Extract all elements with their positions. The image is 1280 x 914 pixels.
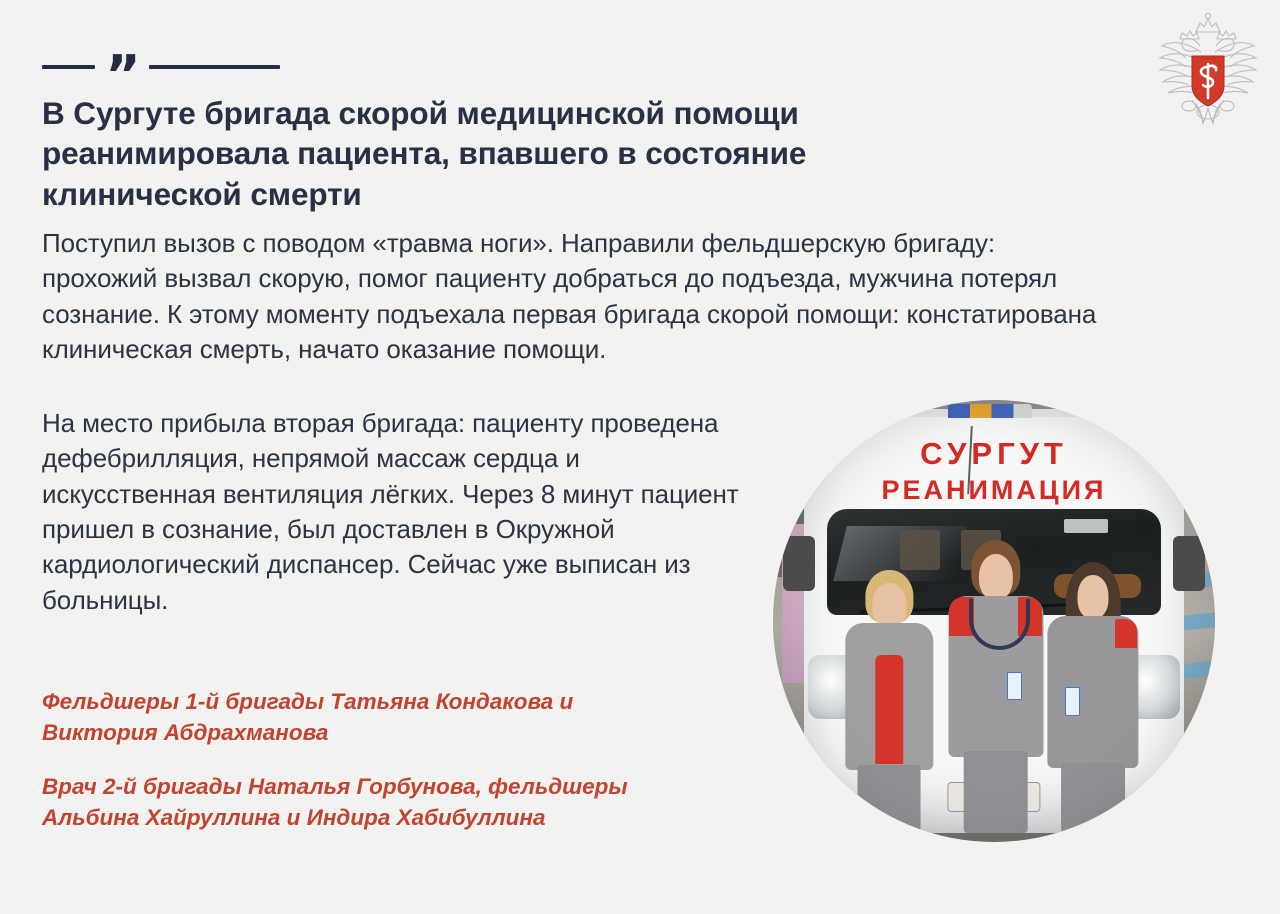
crew-member-left <box>846 570 933 833</box>
body-paragraph-first: Поступил вызов с поводом «травма ноги». … <box>42 226 1097 367</box>
uniform-red-panel <box>875 655 903 764</box>
emergency-lightbar <box>948 404 1032 418</box>
crew-trousers <box>964 751 1029 833</box>
crew-head <box>873 583 906 628</box>
van-label-city: СУРГУТ <box>804 436 1184 472</box>
side-mirror-right <box>1173 536 1205 591</box>
uniform-shoulder-right <box>1115 619 1137 649</box>
body-paragraph-second: На место прибыла вторая бригада: пациент… <box>42 406 757 618</box>
crew-uniform <box>846 623 933 770</box>
quote-rule-decoration: ” <box>42 52 280 82</box>
crew-trousers <box>1061 763 1125 834</box>
crew-trousers <box>858 765 921 833</box>
credit-brigade-one: Фельдшеры 1-й бригады Татьяна Кондакова … <box>42 687 662 748</box>
crew-member-right <box>1047 562 1138 834</box>
rule-dash-short <box>42 65 95 69</box>
credit-brigade-two: Врач 2-й бригады Наталья Горбунова, фель… <box>42 772 662 833</box>
infocard: ” В Сургуте бригада скорой медицинской п… <box>0 0 1280 914</box>
page-title: В Сургуте бригада скорой медицинской пом… <box>42 93 922 214</box>
windshield-sticker <box>1064 519 1107 533</box>
crew-head <box>1077 575 1108 618</box>
ambulance-van: СУРГУТ РЕАНИМАЦИЯ 03 86 RUS <box>804 409 1184 833</box>
rule-dash-long <box>149 65 280 69</box>
crew-member-center <box>948 540 1043 833</box>
ministry-of-health-emblem <box>1156 12 1260 132</box>
photo-scene: СУРГУТ РЕАНИМАЦИЯ 03 86 RUS <box>773 400 1215 842</box>
ambulance-crew-photo: СУРГУТ РЕАНИМАЦИЯ 03 86 RUS <box>773 400 1215 842</box>
side-mirror-left <box>783 536 815 591</box>
crew-head <box>979 554 1013 601</box>
sun-visor-left <box>900 530 940 570</box>
id-badge <box>1007 672 1021 700</box>
van-label-service: РЕАНИМАЦИЯ <box>804 475 1184 506</box>
id-badge <box>1065 687 1080 716</box>
